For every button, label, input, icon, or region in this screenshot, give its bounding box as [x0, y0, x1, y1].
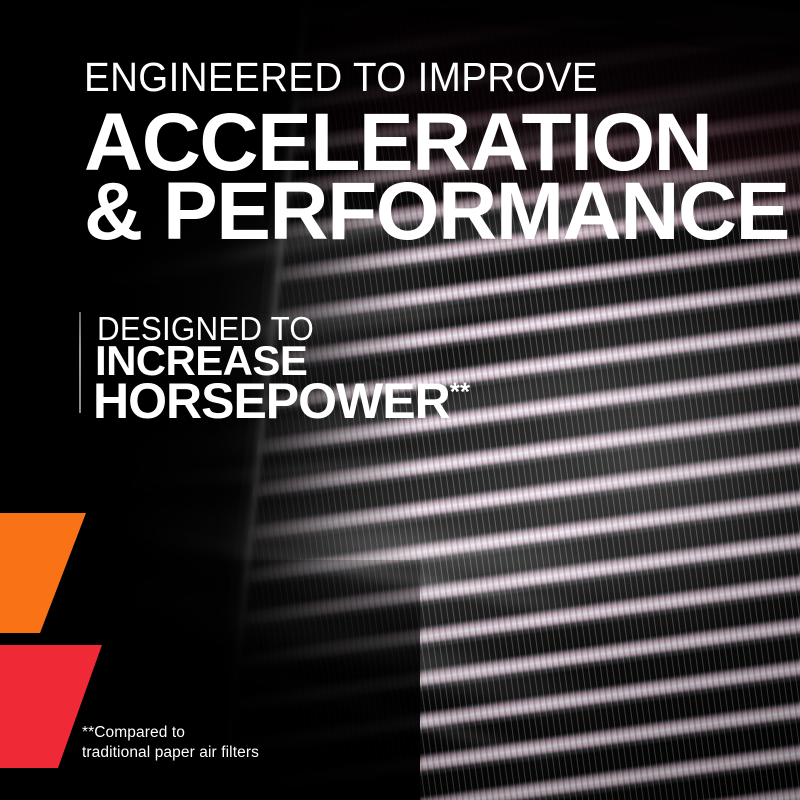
footnote-line-1: **Compared to: [82, 722, 185, 744]
subhead-superscript: **: [450, 376, 470, 406]
vertical-divider-rule: [79, 312, 81, 413]
copy-block: ENGINEERED TO IMPROVE ACCELERATION & PER…: [0, 0, 800, 800]
marketing-banner: ENGINEERED TO IMPROVE ACCELERATION & PER…: [0, 0, 800, 800]
headline-line-2: & PERFORMANCE: [84, 174, 789, 249]
subhead-line-2: HORSEPOWER**: [93, 376, 470, 426]
footnote-line-2: traditional paper air filters: [82, 742, 259, 764]
subhead-line-2-text: HORSEPOWER: [93, 373, 450, 429]
eyebrow-text: ENGINEERED TO IMPROVE: [84, 57, 598, 98]
